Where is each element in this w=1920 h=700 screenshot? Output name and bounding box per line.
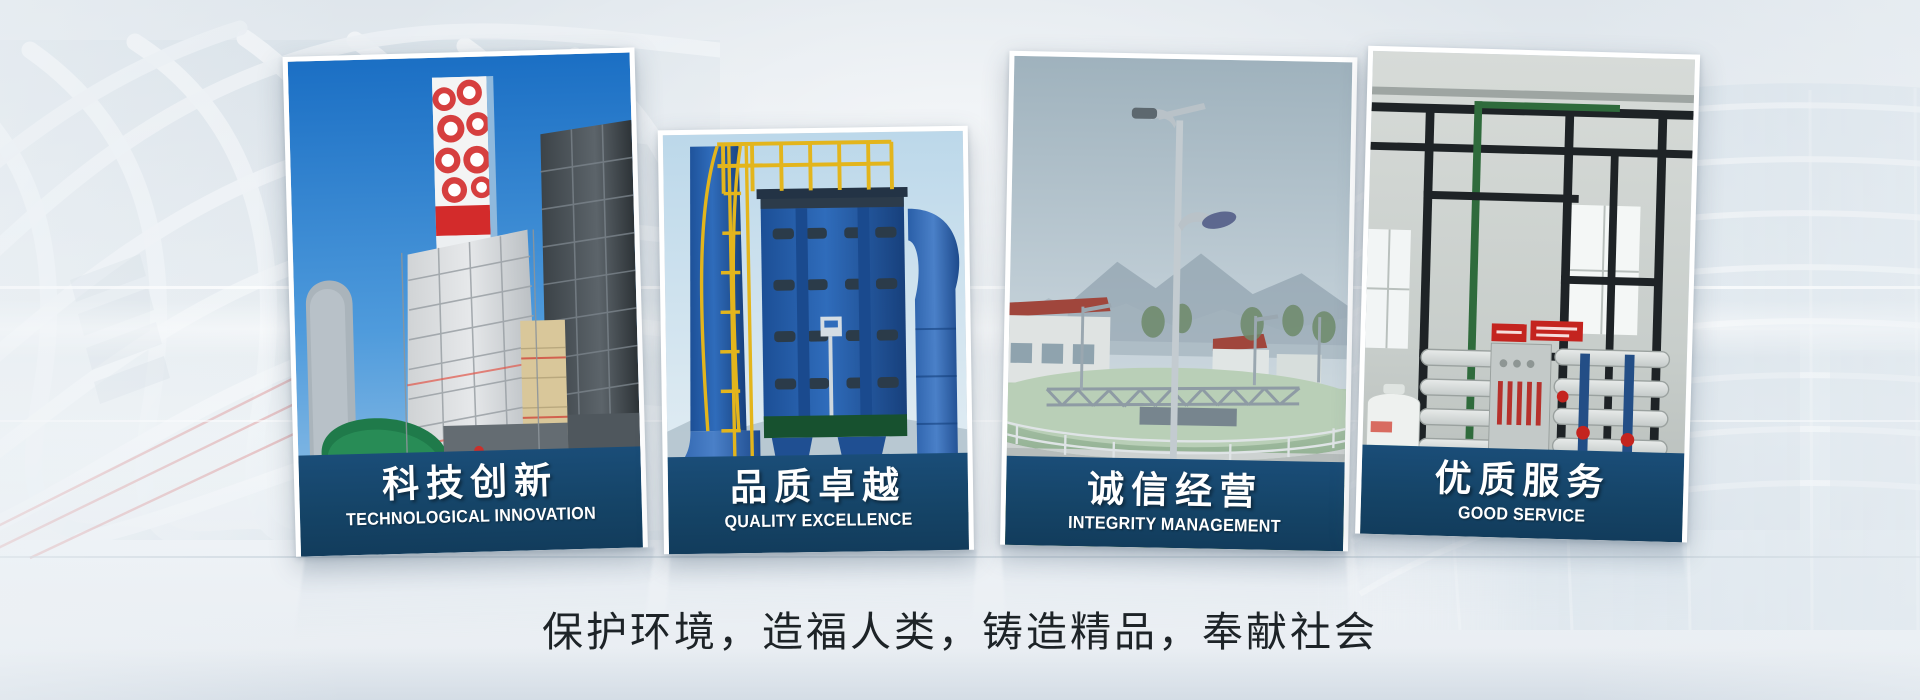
- card-title-cn: 诚信经营: [1012, 468, 1339, 514]
- card-title-cn: 品质卓越: [674, 465, 963, 509]
- card-title-en: GOOD SERVICE: [1379, 501, 1665, 528]
- card-technological-innovation[interactable]: 科技创新 TECHNOLOGICAL INNOVATION: [283, 47, 648, 556]
- card-caption: 品质卓越 QUALITY EXCELLENCE: [668, 453, 969, 555]
- card-integrity-management[interactable]: 诚信经营 INTEGRITY MANAGEMENT: [1000, 51, 1357, 552]
- value-card-list: 科技创新 TECHNOLOGICAL INNOVATION: [0, 0, 1920, 620]
- card-good-service[interactable]: 优质服务 GOOD SERVICE: [1355, 46, 1700, 543]
- card-title-cn: 科技创新: [305, 458, 636, 507]
- card-title-cn: 优质服务: [1367, 457, 1678, 505]
- banner-stage: 科技创新 TECHNOLOGICAL INNOVATION: [0, 0, 1920, 700]
- card-title-en: TECHNOLOGICAL INNOVATION: [319, 503, 623, 530]
- card-title-en: QUALITY EXCELLENCE: [686, 509, 951, 532]
- card-caption: 科技创新 TECHNOLOGICAL INNOVATION: [298, 446, 643, 556]
- card-quality-excellence[interactable]: 品质卓越 QUALITY EXCELLENCE: [658, 126, 974, 555]
- banner-tagline: 保护环境，造福人类，铸造精品，奉献社会: [0, 598, 1920, 658]
- card-caption: 优质服务 GOOD SERVICE: [1360, 444, 1684, 542]
- card-title-en: INTEGRITY MANAGEMENT: [1024, 512, 1324, 537]
- card-caption: 诚信经营 INTEGRITY MANAGEMENT: [1005, 456, 1345, 552]
